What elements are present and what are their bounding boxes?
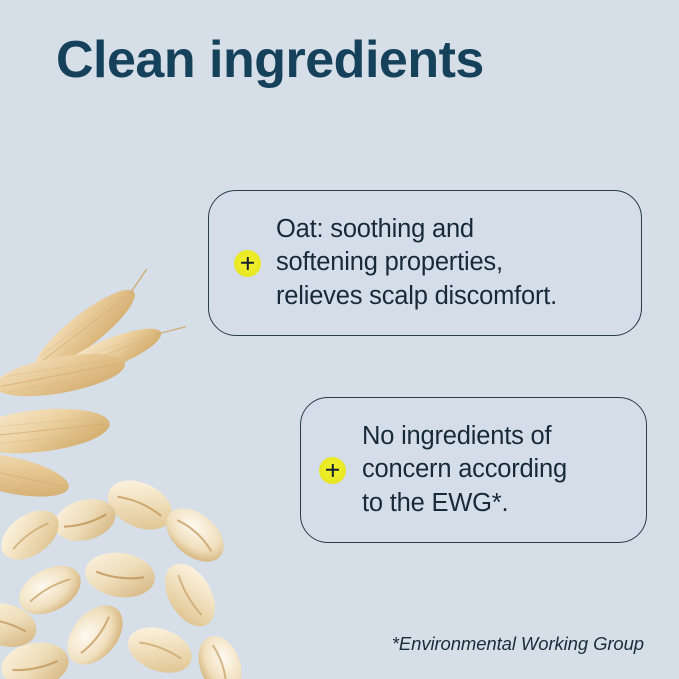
plus-icon (234, 250, 261, 277)
ingredient-card-oat-text: Oat: soothing and softening properties, … (276, 213, 557, 313)
ingredient-card-ewg: No ingredients of concern according to t… (300, 397, 647, 543)
ingredient-card-oat: Oat: soothing and softening properties, … (208, 190, 642, 336)
plus-icon (319, 457, 346, 484)
ingredient-card-ewg-text: No ingredients of concern according to t… (362, 420, 567, 520)
footnote: *Environmental Working Group (392, 633, 644, 655)
product-ingredient-panel: Clean ingredients (0, 0, 679, 679)
page-title: Clean ingredients (56, 32, 484, 89)
